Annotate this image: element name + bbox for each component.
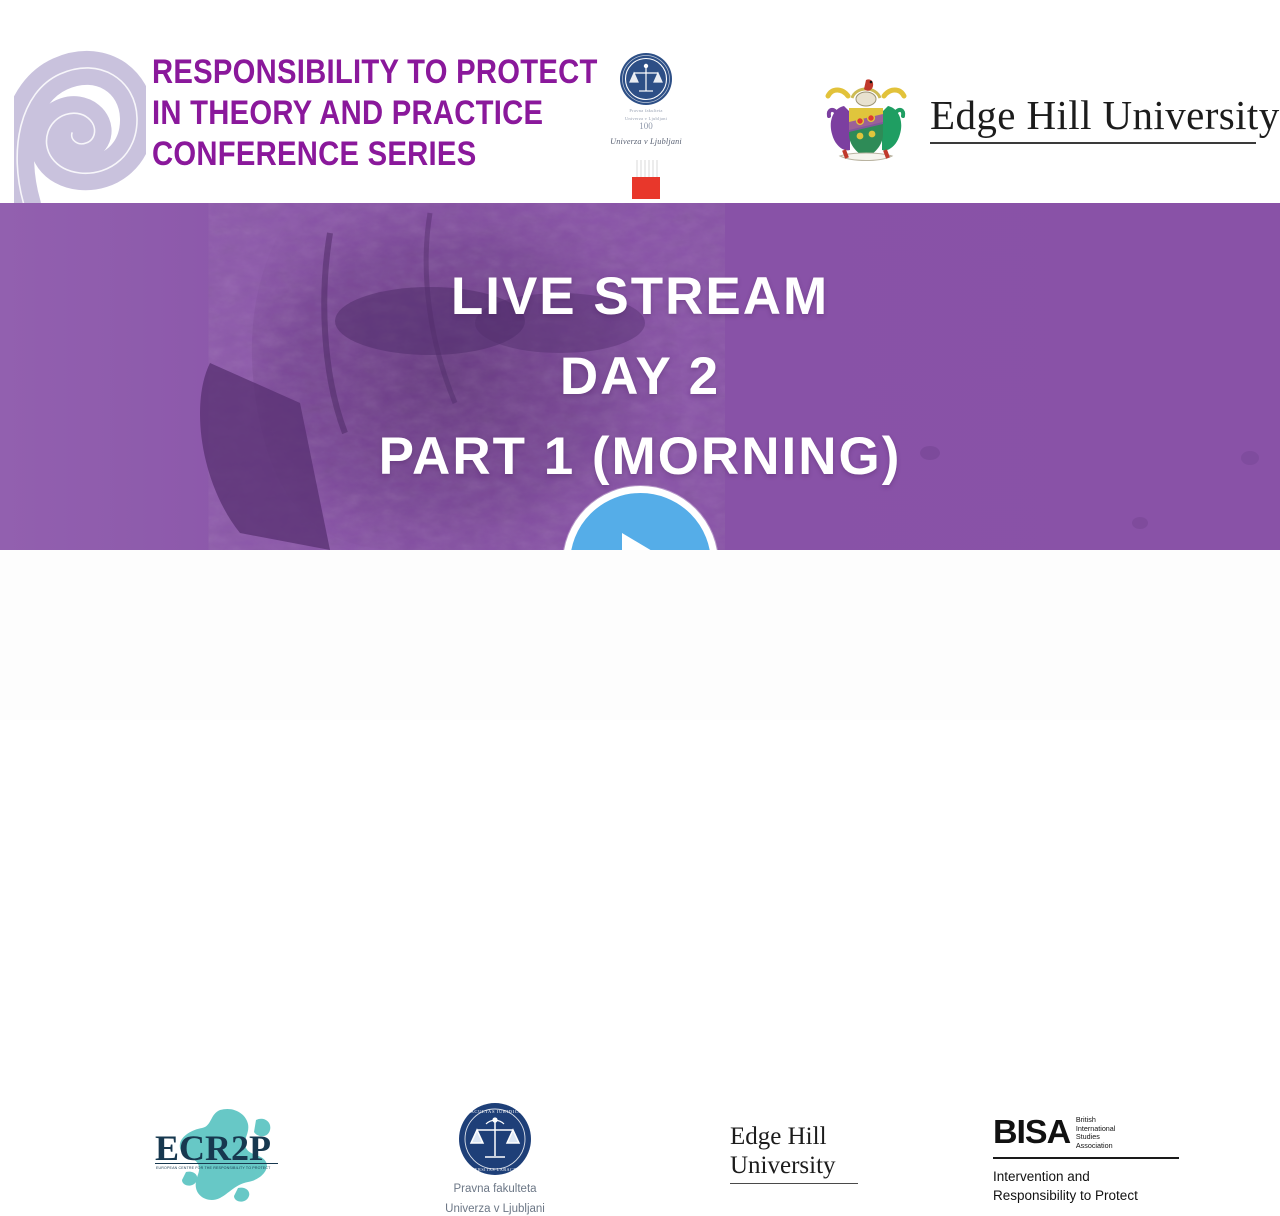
edge-hill-underline — [930, 142, 1256, 144]
seal-text-bottom: UNIVERSITAS LABACENSIS — [463, 1167, 528, 1172]
conference-title-line-2: IN THEORY AND PRACTICE — [152, 93, 539, 134]
bisa-expansion-line-2: International — [1076, 1125, 1116, 1134]
bisa-expansion-line-4: Association — [1076, 1142, 1116, 1151]
bisa-tagline-line-2: Responsibility to Protect — [993, 1186, 1193, 1205]
ljubljana-name: Univerza v Ljubljani — [604, 137, 688, 146]
university-of-ljubljana-logo: Pravna fakulteta Univerza v Ljubljani 10… — [604, 52, 688, 201]
conference-header-banner: RESPONSIBILITY TO PROTECT IN THEORY AND … — [0, 0, 1280, 203]
ecr2p-tagline: EUROPEAN CENTRE FOR THE RESPONSIBILITY T… — [156, 1166, 271, 1170]
edge-hill-coat-of-arms-icon — [818, 72, 914, 168]
scales-of-justice-seal-icon — [619, 52, 673, 106]
edge-hill-footer-logo: Edge Hill University — [730, 1122, 858, 1184]
bisa-expansion-line-3: Studies — [1076, 1133, 1116, 1142]
video-player[interactable]: LIVE STREAM DAY 2 PART 1 (MORNING) — [0, 203, 1280, 550]
conference-title-line-3: CONFERENCE SERIES — [152, 134, 539, 175]
ljubljana-anniversary: 100 — [604, 121, 688, 131]
ecr2p-wordmark: ECR2P — [155, 1128, 271, 1168]
conference-title-line-1: RESPONSIBILITY TO PROTECT — [152, 52, 539, 93]
spiral-swirl-logo-icon — [14, 30, 146, 203]
play-triangle-icon — [622, 533, 674, 550]
slovenia-red-white-icon — [628, 157, 664, 201]
seal-text-top: FACULTAS IURIDICA — [468, 1109, 523, 1114]
bisa-tagline: Intervention and Responsibility to Prote… — [993, 1167, 1193, 1205]
bisa-header: BISA British International Studies Assoc… — [993, 1115, 1193, 1150]
pravna-fakulteta-logo: FACULTAS IURIDICA UNIVERSITAS LABACENSIS… — [440, 1102, 550, 1216]
bisa-logo: BISA British International Studies Assoc… — [993, 1115, 1193, 1205]
edge-hill-wordmark: Edge Hill University — [930, 92, 1280, 148]
bisa-expansion: British International Studies Associatio… — [1076, 1115, 1116, 1150]
bisa-tagline-line-1: Intervention and — [993, 1167, 1193, 1186]
ecr2p-logo: ECR2P EUROPEAN CENTRE FOR THE RESPONSIBI… — [150, 1102, 300, 1207]
edge-hill-name: Edge Hill University — [930, 92, 1280, 138]
edge-hill-footer-line-2: University — [730, 1151, 858, 1180]
edge-hill-footer-line-1: Edge Hill — [730, 1122, 858, 1151]
pravna-fakulteta-caption-2: Univerza v Ljubljani — [440, 1202, 550, 1216]
bisa-divider — [993, 1157, 1179, 1158]
conference-title: RESPONSIBILITY TO PROTECT IN THEORY AND … — [152, 52, 539, 175]
edge-hill-footer-underline — [730, 1183, 858, 1184]
ljubljana-sub-line-1: Pravna fakulteta — [604, 108, 688, 114]
bisa-wordmark: BISA — [993, 1115, 1070, 1148]
pravna-fakulteta-caption-1: Pravna fakulteta — [440, 1182, 550, 1196]
bisa-expansion-line-1: British — [1076, 1116, 1116, 1125]
pravna-fakulteta-seal-icon: FACULTAS IURIDICA UNIVERSITAS LABACENSIS — [458, 1102, 532, 1176]
sponsor-footer: ECR2P EUROPEAN CENTRE FOR THE RESPONSIBI… — [0, 550, 1280, 720]
ecr2p-europe-map-icon: ECR2P EUROPEAN CENTRE FOR THE RESPONSIBI… — [150, 1102, 300, 1207]
video-player-page: RESPONSIBILITY TO PROTECT IN THEORY AND … — [0, 0, 1280, 720]
edge-hill-university-header-logo: Edge Hill University — [818, 72, 1280, 168]
